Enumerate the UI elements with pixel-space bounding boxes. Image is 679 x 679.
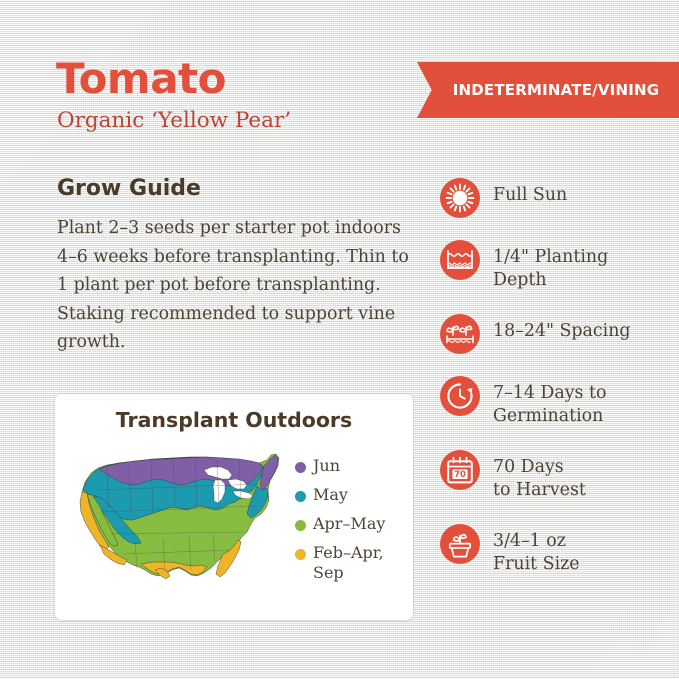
spec-row-fruit-size: 3/4–1 oz Fruit Size	[440, 524, 672, 576]
germination-clock-icon	[440, 376, 480, 416]
spec-list: Full Sun 1/4" Planting Depth	[440, 178, 672, 598]
map-card-title: Transplant Outdoors	[55, 408, 413, 432]
spec-row-spacing: 18–24" Spacing	[440, 314, 672, 354]
spec-label: 1/4" Planting Depth	[493, 240, 608, 292]
legend-label: Jun	[313, 456, 340, 476]
usa-zone-map	[71, 446, 293, 598]
spec-row-germination: 7–14 Days to Germination	[440, 376, 672, 428]
page-title: Tomato	[56, 56, 226, 102]
legend-item: May	[295, 485, 407, 505]
map-legend: Jun May Apr–May Feb–Apr, Sep	[295, 456, 407, 592]
variety-subtitle: Organic ‘Yellow Pear’	[57, 108, 291, 134]
legend-label: May	[313, 485, 348, 505]
sun-icon	[440, 178, 480, 218]
legend-label: Apr–May	[313, 514, 385, 534]
spec-label: 18–24" Spacing	[493, 314, 631, 343]
spec-label: 70 Days to Harvest	[493, 450, 586, 502]
grow-guide-heading: Grow Guide	[57, 176, 201, 201]
legend-dot-jun	[295, 462, 306, 473]
legend-dot-apr-may	[295, 520, 306, 531]
legend-label: Feb–Apr, Sep	[313, 543, 384, 583]
calendar-number: 70	[454, 469, 466, 479]
spec-row-planting-depth: 1/4" Planting Depth	[440, 240, 672, 292]
spec-row-full-sun: Full Sun	[440, 178, 672, 218]
spec-label: 3/4–1 oz Fruit Size	[493, 524, 580, 576]
spec-label: 7–14 Days to Germination	[493, 376, 606, 428]
legend-dot-feb-apr-sep	[295, 549, 306, 560]
planting-depth-icon	[440, 240, 480, 280]
legend-item: Apr–May	[295, 514, 407, 534]
spec-label: Full Sun	[493, 178, 567, 207]
growth-habit-label: INDETERMINATE/VINING	[453, 81, 660, 99]
spec-row-harvest: 70 70 Days to Harvest	[440, 450, 672, 502]
seed-packet: Tomato Organic ‘Yellow Pear’ INDETERMINA…	[0, 0, 679, 679]
transplant-map-card: Transplant Outdoors	[55, 394, 413, 620]
fruit-size-pot-icon	[440, 524, 480, 564]
legend-dot-may	[295, 491, 306, 502]
legend-item: Jun	[295, 456, 407, 476]
spacing-icon	[440, 314, 480, 354]
grow-guide-body: Plant 2–3 seeds per starter pot indoors …	[57, 214, 415, 357]
growth-habit-banner: INDETERMINATE/VINING	[417, 62, 679, 118]
calendar-icon: 70	[440, 450, 480, 490]
legend-item: Feb–Apr, Sep	[295, 543, 407, 583]
